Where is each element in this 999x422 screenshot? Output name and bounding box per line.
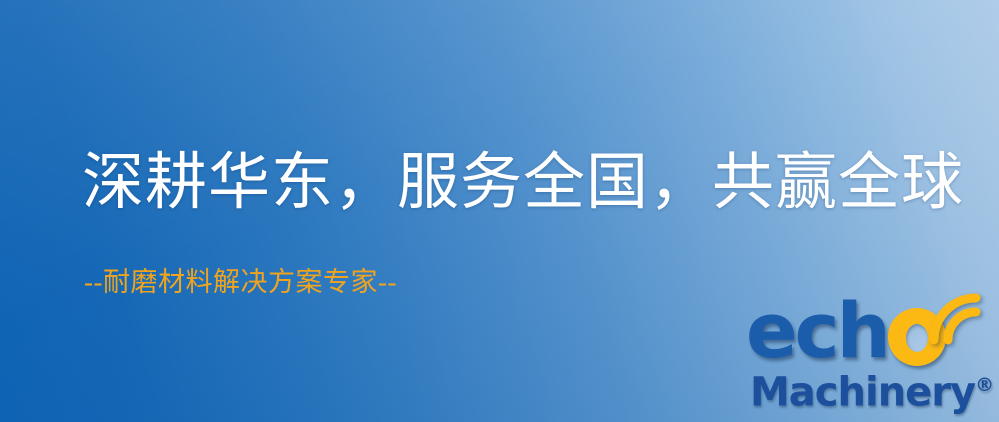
logo-letter-o bbox=[888, 294, 954, 368]
logo-text-ech: ech bbox=[746, 294, 888, 368]
registered-trademark-icon: ® bbox=[975, 374, 994, 396]
hero-banner: 深耕华东，服务全国，共赢全球 --耐磨材料解决方案专家-- ech Machin… bbox=[0, 0, 999, 422]
wifi-signal-arcs-icon bbox=[924, 288, 986, 350]
logo-tagline-text: Machinery bbox=[750, 369, 975, 415]
banner-subtitle: --耐磨材料解决方案专家-- bbox=[84, 266, 397, 298]
banner-headline: 深耕华东，服务全国，共赢全球 bbox=[82, 150, 964, 217]
echo-machinery-logo[interactable]: ech Machinery® bbox=[746, 294, 998, 420]
logo-tagline: Machinery® bbox=[750, 362, 994, 415]
logo-wordmark: ech bbox=[746, 294, 954, 368]
